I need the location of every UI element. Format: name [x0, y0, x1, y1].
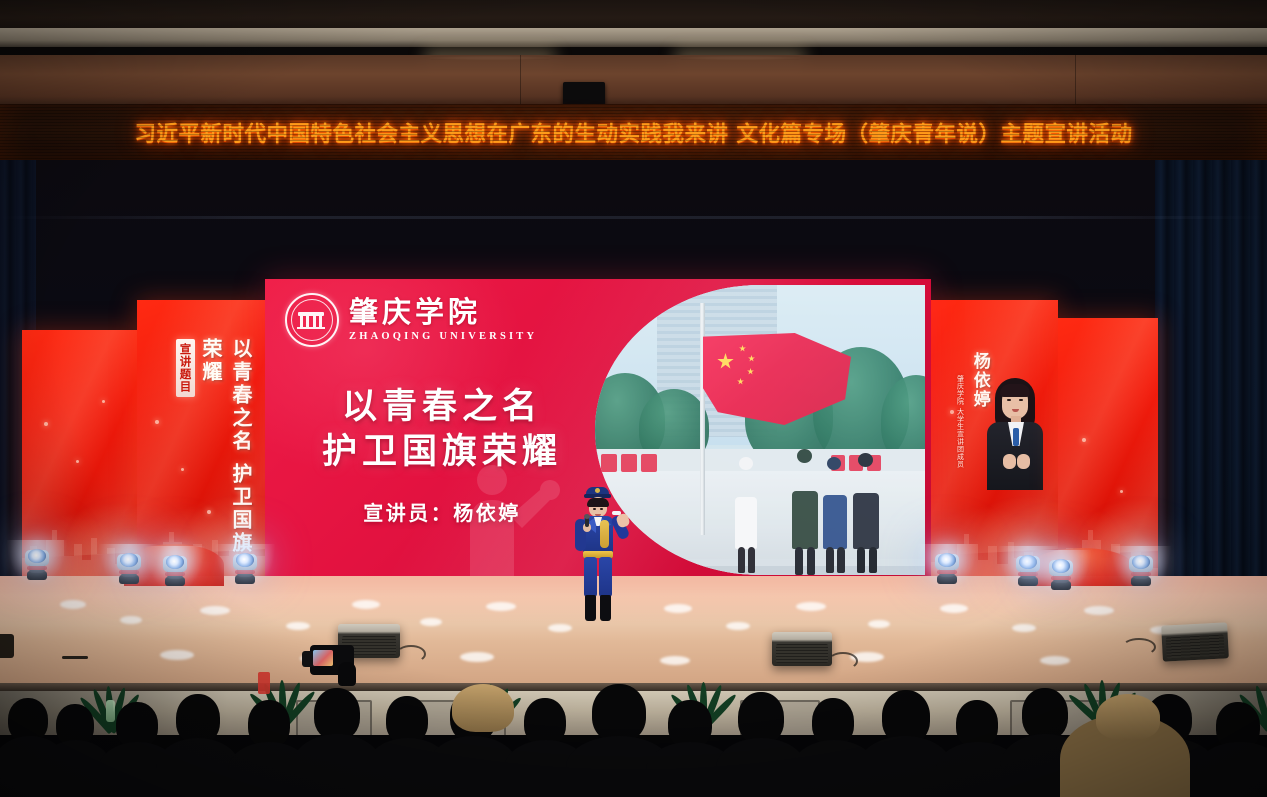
bokeh-dot: [181, 468, 184, 471]
floor-light-dapple: [664, 604, 692, 613]
auditorium-scene: 习近平新时代中国特色社会主义思想在广东的生动实践我来讲 文化篇专场（肇庆青年说）…: [0, 0, 1267, 797]
seal-base: [297, 327, 325, 330]
speaker-eye-left: [593, 508, 596, 510]
speaker-portrait: [985, 378, 1045, 490]
light-lens: [1132, 555, 1150, 569]
university-name-en: ZHAOQING UNIVERSITY: [349, 331, 537, 342]
portrait-fringe: [1000, 384, 1030, 397]
audience-head: [524, 698, 566, 746]
audience-head: [1022, 688, 1068, 740]
bokeh-dot: [155, 420, 159, 424]
upper-wall: [0, 55, 1267, 110]
left-banner-label-text: 宣讲题目: [179, 343, 191, 393]
light-lens: [236, 553, 254, 567]
stage-speaker: [567, 487, 629, 623]
audience-head: [738, 692, 784, 744]
wall-ledge: [0, 216, 1267, 219]
audience-head: [314, 688, 360, 740]
floor-light-dapple: [940, 604, 968, 613]
seal-column: [313, 316, 316, 327]
microphone-head: [584, 514, 590, 519]
speaker-cap-badge: [595, 488, 600, 493]
light-lens: [938, 553, 956, 567]
moving-head-light: [934, 550, 960, 584]
stage-monitor-right: [1161, 622, 1229, 661]
speaker-aiguillette: [600, 520, 609, 548]
floor-light-dapple: [486, 602, 516, 611]
portrait-hand-right: [1017, 454, 1030, 469]
light-trim: [27, 566, 47, 570]
speaker-leg-left: [584, 557, 597, 597]
moving-head-light: [162, 552, 188, 586]
audience-head: [248, 700, 290, 748]
speaker-leg-right: [599, 557, 612, 597]
light-trim: [119, 570, 139, 574]
audience-head: [386, 696, 428, 744]
monitor-cable-center: [828, 652, 858, 670]
seal-column: [306, 316, 309, 327]
floor-light-dapple: [548, 624, 572, 632]
monitor-cable-left: [396, 645, 426, 663]
stage-curtain-right: [1155, 160, 1267, 600]
floor-light-dapple: [352, 600, 380, 609]
bokeh-dot: [76, 460, 79, 463]
slide-title-line1: 以青春之名: [287, 385, 597, 430]
wall-seam-1: [520, 55, 521, 110]
floor-light-dapple: [200, 606, 230, 615]
speaker-boot-right: [600, 595, 611, 621]
light-trim: [1051, 576, 1071, 580]
floor-light-dapple: [796, 602, 826, 611]
moving-head-light: [1048, 556, 1074, 590]
floor-light-dapple: [60, 600, 86, 609]
camera-lcd-screen: [313, 650, 333, 666]
portrait-tie: [1013, 428, 1019, 446]
audience-shoulders: [1196, 742, 1267, 797]
seal-column: [300, 316, 303, 327]
speaker-hair: [587, 498, 609, 507]
audience-head: [812, 698, 854, 746]
bokeh-dot: [1082, 438, 1086, 442]
moving-head-light: [116, 550, 142, 584]
university-name-cn: 肇庆学院: [349, 298, 537, 327]
bokeh-dot: [1120, 490, 1123, 493]
monitor-grille: [776, 644, 829, 664]
stage-edge-box-left: [0, 634, 14, 658]
right-banner-speaker-affiliation: 肇庆学院 大学生宣讲团成员: [955, 375, 964, 468]
light-lens: [120, 553, 138, 567]
portrait-hand-left: [1003, 454, 1016, 469]
light-trim: [937, 570, 957, 574]
portrait-eye-left: [1007, 399, 1011, 401]
audience-head: [956, 700, 998, 748]
portrait-eye-right: [1019, 399, 1023, 401]
wall-seam-2: [1075, 55, 1076, 110]
ceiling-beam: [0, 28, 1267, 48]
light-trim: [1131, 572, 1151, 576]
stage-monitor-center: [772, 632, 832, 666]
floor-light-dapple: [120, 616, 142, 624]
light-trim: [235, 570, 255, 574]
light-lens: [1052, 559, 1070, 573]
speaker-boot-left: [585, 595, 596, 621]
floor-light-dapple: [286, 622, 310, 630]
seal-building-motif: [298, 312, 324, 327]
left-banner-title: 以青春之名 护卫国旗荣耀: [198, 338, 256, 568]
camera-operator-hand: [338, 662, 356, 686]
monitor-grille: [1166, 635, 1225, 659]
floor-light-dapple: [1012, 624, 1036, 632]
photo-color-tint: [595, 285, 925, 575]
speaker-eye-right: [600, 508, 603, 510]
seal-column: [319, 316, 322, 327]
bokeh-dot: [44, 422, 48, 426]
university-logo: 肇庆学院 ZHAOQING UNIVERSITY: [285, 293, 537, 347]
side-banner-outer-right: [1058, 318, 1158, 580]
floor-light-dapple: [160, 650, 194, 660]
light-trim: [165, 572, 185, 576]
flag-raising-photo: [595, 285, 925, 575]
university-seal-icon: [285, 293, 339, 347]
audience-beanie-hat: [1096, 694, 1160, 740]
floor-light-dapple: [1040, 656, 1070, 665]
audience-head: [668, 700, 712, 748]
university-logo-text: 肇庆学院 ZHAOQING UNIVERSITY: [349, 298, 537, 342]
audience-head: [176, 694, 220, 744]
led-scanlines: [0, 104, 1267, 160]
left-banner-label-plate: 宣讲题目: [176, 339, 195, 397]
ceiling-beam-shadow: [0, 47, 1267, 55]
floor-light-dapple: [868, 620, 890, 628]
audience-area: [0, 680, 1267, 797]
audience-phone-screen: [258, 672, 270, 694]
photo-inner: [595, 285, 925, 575]
floor-light-dapple: [420, 618, 442, 626]
floor-light-dapple: [726, 622, 750, 630]
light-lens: [166, 555, 184, 569]
moving-head-light: [1128, 552, 1154, 586]
moving-head-light: [24, 546, 50, 580]
audience-head: [592, 684, 646, 742]
moving-head-light: [232, 550, 258, 584]
speaker-cuff: [612, 511, 621, 515]
led-banner: 习近平新时代中国特色社会主义思想在广东的生动实践我来讲 文化篇专场（肇庆青年说）…: [0, 104, 1267, 160]
floor-light-dapple: [1084, 606, 1114, 615]
audience-beanie-hat: [452, 684, 514, 732]
light-lens: [28, 549, 46, 563]
bokeh-dot: [102, 400, 105, 403]
bokeh-dot: [950, 410, 954, 414]
